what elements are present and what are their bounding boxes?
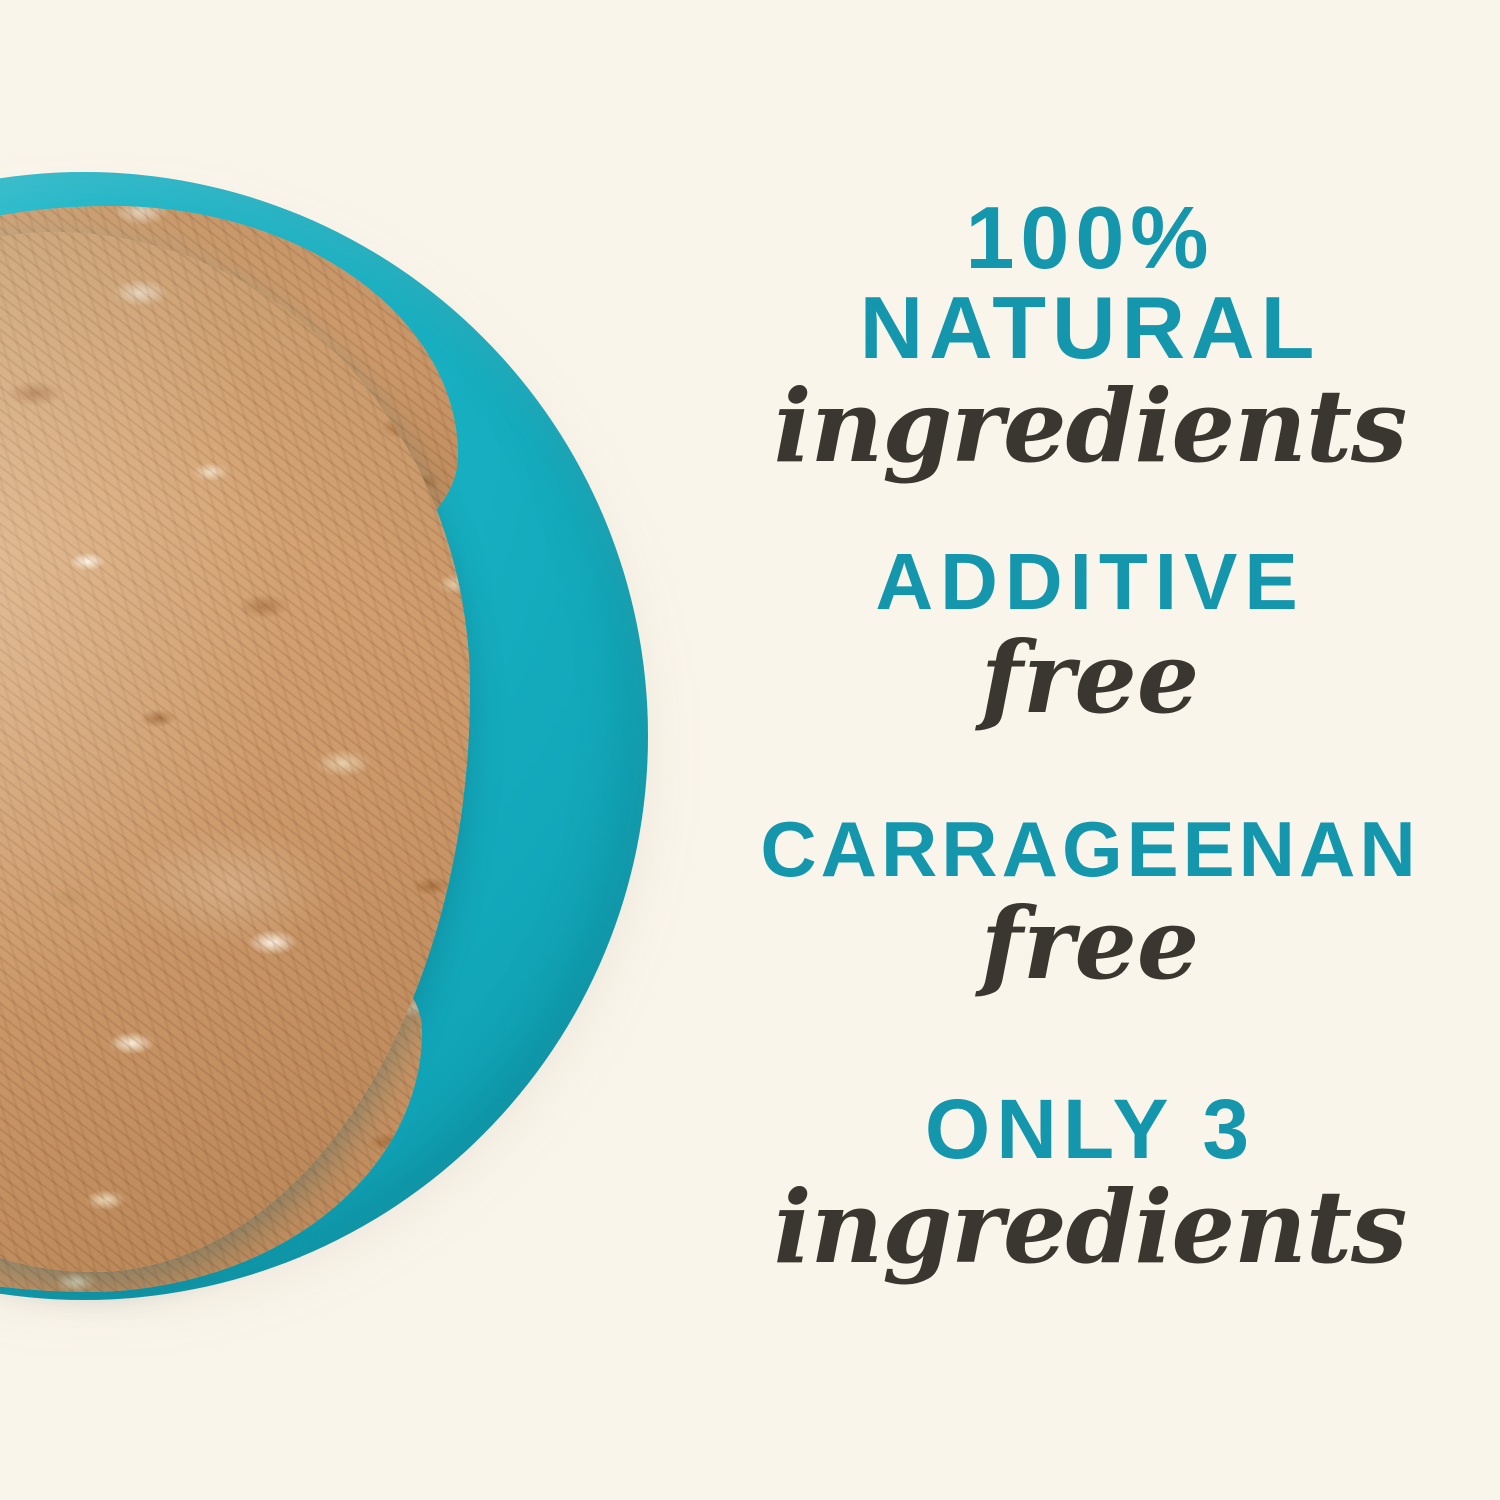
benefit-claims-list: 100% NATURAL ingredients ADDITIVE free C…	[740, 0, 1500, 1500]
benefit-additive: ADDITIVE free	[740, 544, 1440, 725]
benefit-additive-headline: ADDITIVE	[740, 544, 1440, 620]
benefit-natural: 100% NATURAL ingredients	[740, 196, 1440, 474]
benefit-carrageenan: CARRAGEENAN free	[740, 812, 1440, 991]
benefit-carrageenan-script: free	[740, 898, 1440, 991]
benefit-only3: ONLY 3 ingredients	[740, 1090, 1440, 1275]
food-photograph	[0, 0, 760, 1500]
food-shading	[0, 232, 470, 1272]
benefit-additive-script: free	[740, 632, 1440, 725]
benefit-natural-script: ingredients	[740, 379, 1440, 474]
benefit-only3-headline: ONLY 3	[740, 1090, 1440, 1170]
benefit-natural-headline-line1: 100%	[740, 196, 1440, 280]
benefit-carrageenan-headline: CARRAGEENAN	[740, 812, 1440, 886]
benefit-natural-headline-line2: NATURAL	[740, 286, 1440, 370]
food-lobe-main	[0, 232, 470, 1272]
food-mound	[0, 232, 470, 1272]
benefit-only3-script: ingredients	[740, 1180, 1440, 1275]
product-benefits-panel: 100% NATURAL ingredients ADDITIVE free C…	[0, 0, 1500, 1500]
